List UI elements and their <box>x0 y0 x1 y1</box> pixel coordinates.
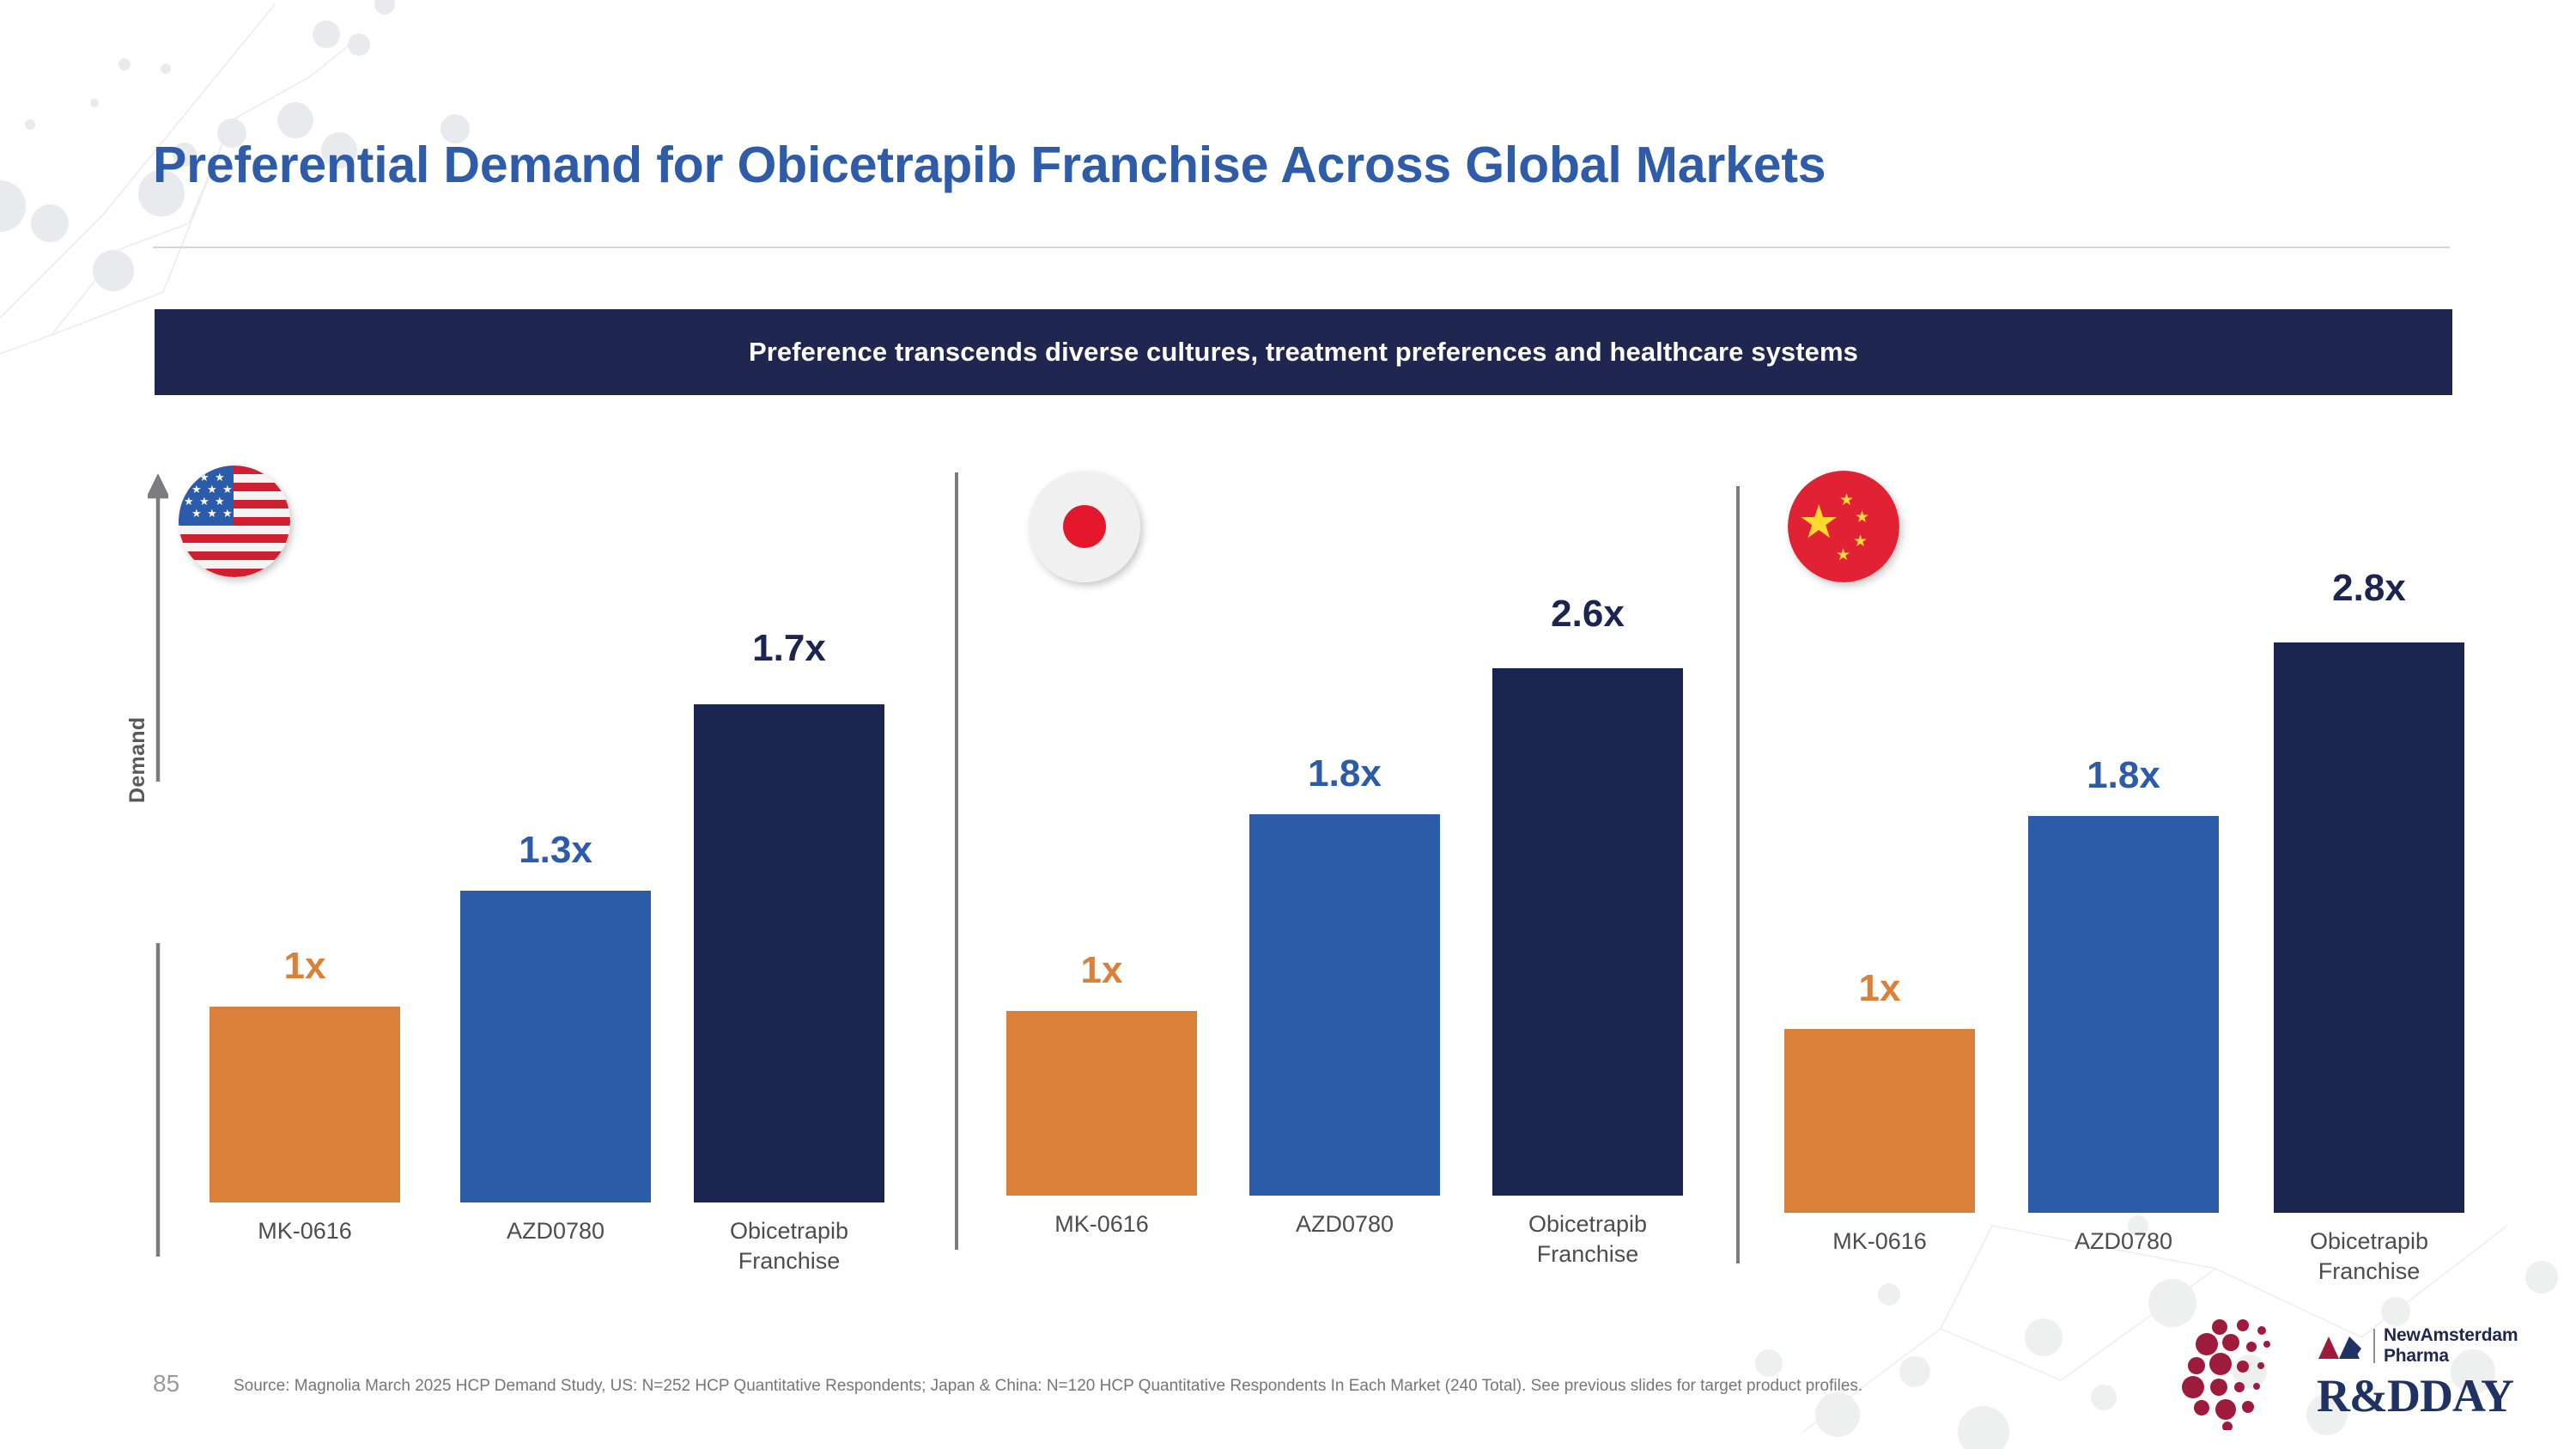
bar-value-china-azd0780: 1.8x <box>2028 754 2219 797</box>
bar-label-china-mk0616: MK-0616 <box>1759 1227 2001 1257</box>
logo-event-name: R&DDAY <box>2317 1373 2542 1419</box>
bar-value-japan-obicetrapib: 2.6x <box>1492 593 1683 636</box>
bar-label-china-obicetrapib: ObicetrapibFranchise <box>2248 1227 2490 1286</box>
flag-us-icon: ★★★ ★★★ ★★★ ★★★ <box>179 466 290 577</box>
logo-company-line2: Pharma <box>2384 1346 2518 1367</box>
brand-logo: NewAmsterdam Pharma R&DDAY <box>2181 1318 2542 1430</box>
bar-label-china-azd0780: AZD0780 <box>2002 1227 2245 1257</box>
svg-text:★: ★ <box>207 483 217 496</box>
logo-company-line1: NewAmsterdam <box>2384 1325 2518 1346</box>
bar-us-azd0780 <box>460 891 651 1202</box>
svg-text:★: ★ <box>1855 508 1869 527</box>
svg-text:★: ★ <box>1836 546 1850 564</box>
svg-text:★: ★ <box>199 495 210 508</box>
bar-us-mk0616 <box>210 1007 400 1202</box>
bar-japan-azd0780 <box>1249 814 1440 1196</box>
logo-wordmark: NewAmsterdam Pharma R&DDAY <box>2317 1325 2542 1419</box>
bar-value-us-azd0780: 1.3x <box>460 829 651 872</box>
bar-label-us-obicetrapib: ObicetrapibFranchise <box>668 1216 910 1275</box>
page-number: 85 <box>153 1370 179 1397</box>
bar-label-japan-mk0616: MK-0616 <box>981 1209 1223 1239</box>
logo-mountain-icon <box>2317 1331 2365 1361</box>
chart-area: Demand <box>0 0 2576 1449</box>
svg-text:★: ★ <box>1853 533 1868 551</box>
bar-japan-mk0616 <box>1006 1011 1197 1196</box>
svg-text:★: ★ <box>184 495 194 508</box>
svg-text:★: ★ <box>222 483 233 496</box>
bar-label-japan-azd0780: AZD0780 <box>1224 1209 1466 1239</box>
bar-value-us-mk0616: 1x <box>210 945 400 988</box>
logo-company-name: NewAmsterdam Pharma <box>2384 1325 2518 1366</box>
flag-china-icon: ★ ★ ★ ★ ★ <box>1788 471 1899 582</box>
slide-canvas: Preferential Demand for Obicetrapib Fran… <box>0 0 2576 1449</box>
svg-text:★: ★ <box>1839 491 1854 509</box>
bar-value-japan-mk0616: 1x <box>1006 949 1197 992</box>
svg-text:★: ★ <box>207 507 217 520</box>
svg-text:★: ★ <box>215 471 225 484</box>
y-axis-arrow <box>148 471 168 1259</box>
svg-text:★: ★ <box>199 471 210 484</box>
svg-text:★: ★ <box>222 507 233 520</box>
group-divider-2 <box>1736 486 1740 1263</box>
bar-value-china-mk0616: 1x <box>1784 967 1975 1010</box>
y-axis-label: Demand <box>125 717 150 803</box>
source-note: Source: Magnolia March 2025 HCP Demand S… <box>234 1377 1862 1396</box>
bar-value-china-obicetrapib: 2.8x <box>2274 567 2464 610</box>
title-divider <box>153 247 2450 248</box>
bar-japan-obicetrapib <box>1492 668 1683 1196</box>
svg-text:★: ★ <box>1798 496 1839 548</box>
subtitle-banner: Preference transcends diverse cultures, … <box>155 309 2452 395</box>
bar-label-us-mk0616: MK-0616 <box>184 1216 426 1246</box>
flag-japan-icon <box>1029 471 1140 582</box>
bar-label-us-azd0780: AZD0780 <box>434 1216 677 1246</box>
logo-separator <box>2373 1329 2375 1363</box>
subtitle-banner-text: Preference transcends diverse cultures, … <box>749 337 1858 368</box>
bar-china-obicetrapib <box>2274 642 2464 1213</box>
bar-value-japan-azd0780: 1.8x <box>1249 752 1440 795</box>
svg-text:★: ★ <box>191 507 202 520</box>
page-title: Preferential Demand for Obicetrapib Fran… <box>153 136 2454 194</box>
logo-dot-cluster-icon <box>2181 1318 2310 1430</box>
svg-text:★: ★ <box>215 495 225 508</box>
bar-label-japan-obicetrapib: ObicetrapibFranchise <box>1467 1209 1709 1269</box>
bar-value-us-obicetrapib: 1.7x <box>694 627 884 670</box>
bar-china-azd0780 <box>2028 816 2219 1213</box>
group-divider-1 <box>955 472 958 1250</box>
bar-china-mk0616 <box>1784 1029 1975 1213</box>
bar-us-obicetrapib <box>694 704 884 1202</box>
svg-text:★: ★ <box>184 471 194 484</box>
svg-text:★: ★ <box>191 483 202 496</box>
